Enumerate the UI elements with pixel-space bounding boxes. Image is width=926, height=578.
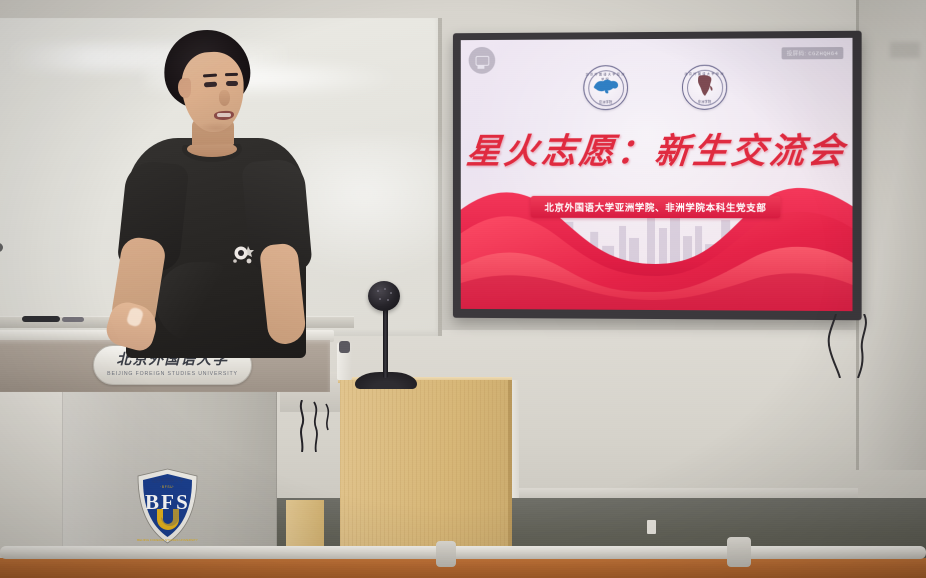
slide-title: 星火志愿：新生交流会 <box>461 123 853 174</box>
person-ear <box>178 78 191 98</box>
person-eye-left <box>204 82 217 87</box>
asian-studies-emblem: 北京外国语大学亚洲学院 亚洲学院 <box>583 65 628 110</box>
cast-code-badge: 投屏码: CGZHQH64 <box>782 47 844 59</box>
whiteboard-marker-icon <box>22 316 60 322</box>
wall-right-panel <box>858 0 926 470</box>
cast-code-label: 投屏码: <box>787 51 807 57</box>
plaque-english-text: BEIJING FOREIGN STUDIES UNIVERSITY <box>107 371 238 377</box>
speaker-person <box>86 12 316 352</box>
svg-text:北京外国语大学: 北京外国语大学 <box>151 477 184 484</box>
bfsu-shield-logo: 北京外国语大学 ·BFSU· B F S BEIJING FOREIGN STU… <box>135 467 200 545</box>
front-bench <box>0 558 926 578</box>
display-cable <box>800 314 920 378</box>
wall-outlet <box>647 520 656 534</box>
person-teeth <box>217 113 231 117</box>
wooden-desk-edge <box>508 380 512 556</box>
rail-bracket <box>436 541 456 567</box>
wall-display[interactable]: 投屏码: CGZHQH64 北京外国语大学亚洲学院 亚洲学院 北京外国语大 <box>453 31 862 321</box>
person-shirt-fold <box>156 262 246 342</box>
slide-subtitle-banner: 北京外国语大学亚洲学院、非洲学院本科生党支部 <box>531 196 781 218</box>
wooden-desk <box>340 380 510 556</box>
svg-text:B: B <box>145 490 159 514</box>
microphone-stem <box>383 300 388 378</box>
person-eyebrow-right <box>225 73 238 76</box>
africa-map-icon <box>695 74 715 98</box>
african-emblem-caption: 非洲学院 <box>683 99 726 104</box>
person-eye-right <box>226 81 238 86</box>
whiteboard-eraser-icon <box>62 317 84 322</box>
wall-smudge <box>890 42 920 58</box>
front-rail <box>0 546 926 559</box>
tshirt-graphic <box>228 240 258 270</box>
cast-glyph <box>475 55 489 65</box>
rail-bracket <box>727 537 751 567</box>
african-studies-emblem: 北京外国语大学非洲学院 非洲学院 <box>682 65 727 110</box>
equipment-cables <box>296 400 342 452</box>
microphone-icon[interactable] <box>368 281 400 311</box>
asia-map-icon <box>592 77 620 95</box>
svg-text:BEIJING FOREIGN STUDIES UNIVER: BEIJING FOREIGN STUDIES UNIVERSITY <box>137 538 198 542</box>
svg-text:·BFSU·: ·BFSU· <box>160 485 175 489</box>
asian-emblem-caption: 亚洲学院 <box>584 99 627 104</box>
svg-text:F: F <box>161 490 174 514</box>
person-chin-shadow <box>196 122 236 134</box>
slide-emblem-row: 北京外国语大学亚洲学院 亚洲学院 北京外国语大学非洲学院 非 <box>461 64 853 110</box>
photo-canvas: 投屏码: CGZHQH64 北京外国语大学亚洲学院 亚洲学院 北京外国语大 <box>0 0 926 578</box>
cast-code-value: CGZHQH64 <box>808 50 838 57</box>
person-nose <box>219 90 230 106</box>
display-screen: 投屏码: CGZHQH64 北京外国语大学亚洲学院 亚洲学院 北京外国语大 <box>461 38 853 311</box>
white-desk-device-cap <box>339 341 350 353</box>
presentation-slide: 投屏码: CGZHQH64 北京外国语大学亚洲学院 亚洲学院 北京外国语大 <box>461 38 853 311</box>
whiteboard-mount-hole <box>0 243 3 252</box>
